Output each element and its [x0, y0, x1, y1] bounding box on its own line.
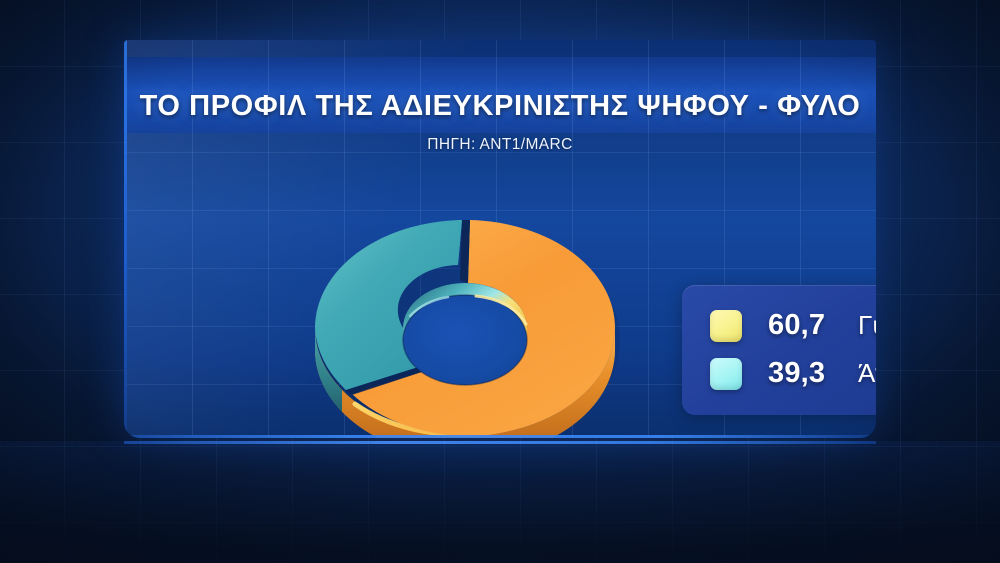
- background-vignette: [0, 0, 1000, 563]
- broadcast-graphic-stage: ΤΟ ΠΡΟΦΙΛ ΤΗΣ ΑΔΙΕΥΚΡΙΝΙΣΤΗΣ ΨΗΦΟΥ - ΦΥΛ…: [0, 0, 1000, 563]
